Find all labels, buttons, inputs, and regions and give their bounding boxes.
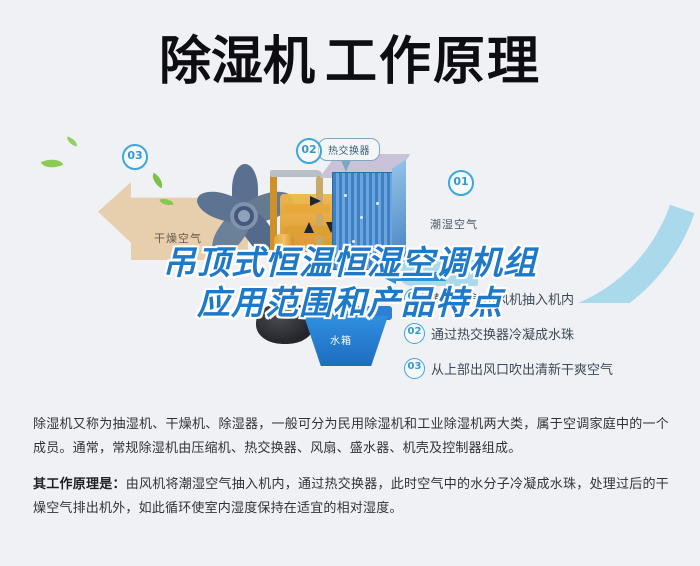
legend-text: 通过热交换器冷凝成水珠: [431, 324, 574, 343]
heat-exchanger-callout-label: 热交换器: [328, 146, 370, 157]
header: 除湿机工作原理: [0, 22, 700, 102]
marker-02: 02: [296, 138, 322, 164]
callout-tail: [341, 160, 351, 172]
legend-number: 01: [404, 288, 425, 309]
water-tank-label: 水箱: [330, 332, 352, 347]
air-intake-arrow-icon: [380, 268, 446, 284]
body-paragraph-2-lead: 其工作原理是：: [33, 477, 126, 492]
body-paragraph-2-rest: 由风机将潮湿空气抽入机内，通过热交换器，此时空气中的水分子冷凝成水珠，处理过后的…: [33, 477, 669, 516]
pipe-segment: [270, 170, 322, 177]
humid-air-label: 潮湿空气: [430, 216, 478, 232]
leaf-icon: [41, 155, 64, 173]
water-tank-icon: 水箱: [300, 306, 392, 368]
page-title: 除湿机工作原理: [159, 36, 541, 88]
marker-01: 01: [448, 170, 474, 196]
legend-item: 02 通过热交换器冷凝成水珠: [404, 323, 694, 344]
arrow-head: [380, 268, 396, 284]
heat-exchanger-fins: [332, 172, 396, 270]
body-paragraph-2: 其工作原理是：由风机将潮湿空气抽入机内，通过热交换器，此时空气中的水分子冷凝成水…: [33, 473, 669, 521]
illustration-stage: 干燥空气: [0, 120, 700, 405]
legend-number: 03: [404, 358, 425, 379]
body-paragraph-1: 除湿机又称为抽湿机、干燥机、除湿器，一般可分为民用除湿机和工业除湿机两大类，属于…: [33, 413, 669, 461]
legend-item: 03 从上部出风口吹出清新干爽空气: [404, 358, 694, 379]
pipe-segment: [316, 176, 323, 264]
receiver-cylinder: [274, 234, 294, 264]
infographic-page: 除湿机工作原理 干燥空气: [0, 0, 700, 566]
legend-text: 从上部出风口吹出清新干爽空气: [431, 359, 613, 378]
heat-exchanger-icon: [326, 154, 412, 276]
legend-list: 01 潮湿空气由风机抽入机内 02 通过热交换器冷凝成水珠 03 从上部出风口吹…: [404, 288, 694, 393]
condensate-drop-icon: [376, 202, 379, 205]
page-title-part2: 工作原理: [325, 32, 541, 92]
condensate-drop-icon: [344, 194, 347, 197]
condensate-drop-icon: [352, 240, 355, 243]
flow-arrow-up-icon: [304, 222, 314, 233]
legend-item: 01 潮湿空气由风机抽入机内: [404, 288, 694, 309]
marker-03: 03: [122, 144, 148, 170]
heat-exchanger-side: [392, 160, 406, 265]
pipe-segment: [284, 204, 330, 214]
legend-number: 02: [404, 323, 425, 344]
body-copy: 除湿机又称为抽湿机、干燥机、除湿器，一般可分为民用除湿机和工业除湿机两大类，属于…: [33, 413, 669, 533]
heat-exchanger-callout: 热交换器: [318, 138, 380, 161]
arrow-shaft: [394, 272, 446, 281]
legend-text: 潮湿空气由风机抽入机内: [431, 289, 574, 308]
fan-hub: [230, 202, 258, 230]
page-title-part1: 除湿机: [159, 32, 315, 92]
leaf-icon: [65, 136, 79, 146]
flow-arrow-right-icon: [310, 196, 321, 206]
condensate-drop-icon: [360, 216, 363, 219]
